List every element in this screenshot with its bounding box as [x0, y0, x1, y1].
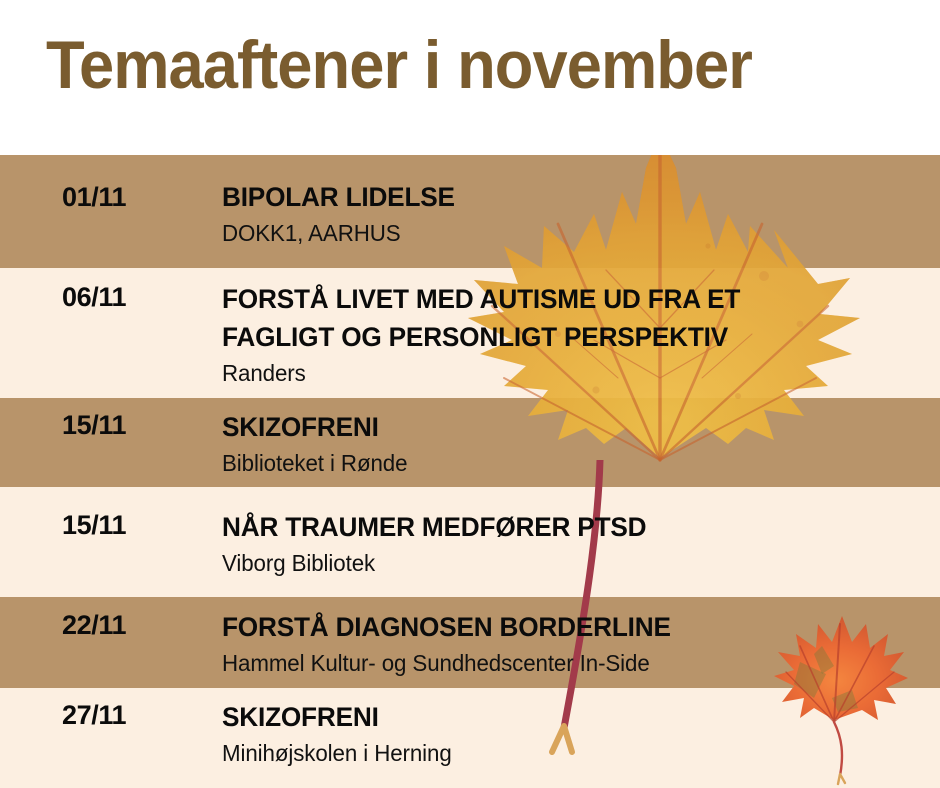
event-body: NÅR TRAUMER MEDFØRER PTSDViborg Bibliote… — [222, 508, 930, 579]
event-venue: Randers — [222, 357, 909, 389]
event-body: FORSTÅ DIAGNOSEN BORDERLINEHammel Kultur… — [222, 608, 930, 679]
event-body: SKIZOFRENIBiblioteket i Rønde — [222, 408, 930, 479]
event-body: FORSTÅ LIVET MED AUTISME UD FRA ET FAGLI… — [222, 280, 930, 389]
event-date: 06/11 — [62, 282, 126, 313]
event-date: 27/11 — [62, 700, 126, 731]
poster-header: Temaaftener i november — [0, 0, 940, 155]
event-date: 22/11 — [62, 610, 126, 641]
event-body: BIPOLAR LIDELSEDOKK1, AARHUS — [222, 178, 930, 249]
page-title: Temaaftener i november — [46, 26, 752, 104]
event-date: 15/11 — [62, 410, 126, 441]
event-body: SKIZOFRENIMinihøjskolen i Herning — [222, 698, 930, 769]
event-title: BIPOLAR LIDELSE — [222, 178, 909, 216]
event-venue: Hammel Kultur- og Sundhedscenter In-Side — [222, 647, 909, 679]
poster-canvas: Temaaftener i november 01/11BIPOLAR LIDE… — [0, 0, 940, 788]
event-title: FORSTÅ LIVET MED AUTISME UD FRA ET FAGLI… — [222, 280, 909, 356]
event-venue: Minihøjskolen i Herning — [222, 737, 909, 769]
event-venue: Viborg Bibliotek — [222, 547, 909, 579]
event-venue: DOKK1, AARHUS — [222, 217, 909, 249]
event-date: 01/11 — [62, 182, 126, 213]
event-date: 15/11 — [62, 510, 126, 541]
event-venue: Biblioteket i Rønde — [222, 447, 909, 479]
event-title: SKIZOFRENI — [222, 698, 909, 736]
event-title: FORSTÅ DIAGNOSEN BORDERLINE — [222, 608, 909, 646]
event-title: NÅR TRAUMER MEDFØRER PTSD — [222, 508, 909, 546]
event-title: SKIZOFRENI — [222, 408, 909, 446]
